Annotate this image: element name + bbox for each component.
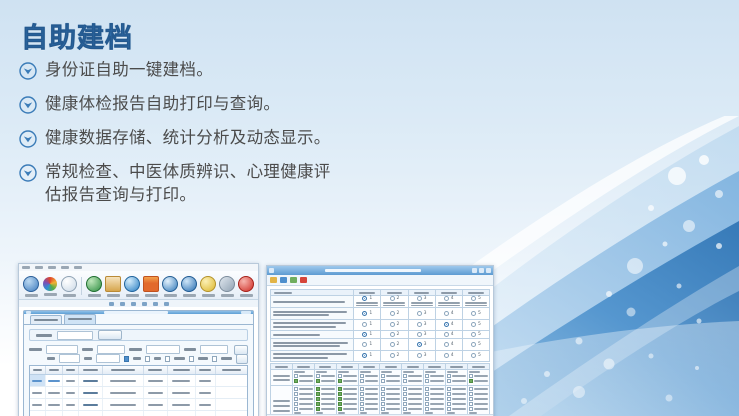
scale-option[interactable]: 4 <box>435 350 462 362</box>
toolbar-clock-icon[interactable] <box>180 275 198 297</box>
toolbar-tools-icon[interactable] <box>218 275 236 297</box>
question-row[interactable]: 1 2 3 4 5 <box>271 308 490 320</box>
scale-option[interactable]: 5 <box>462 296 489 308</box>
list-item-label: 常规检查、中医体质辨识、心理健康评 估报告查询与打印。 <box>45 160 331 206</box>
scale-option[interactable]: 5 <box>462 319 489 331</box>
filter-checkbox[interactable] <box>189 356 194 362</box>
checkbox <box>360 387 364 391</box>
checkbox <box>469 402 473 406</box>
question-text <box>271 319 354 331</box>
radio-button <box>471 332 476 337</box>
scale-option[interactable]: 5 <box>462 339 489 351</box>
checkbox <box>338 374 342 378</box>
checkbox <box>469 392 473 396</box>
print-icon[interactable] <box>280 277 287 283</box>
score-cell[interactable] <box>468 370 490 386</box>
name-input <box>59 354 79 363</box>
mdi-child-window[interactable] <box>23 310 254 416</box>
id-input <box>96 354 120 363</box>
radio-button <box>417 342 422 347</box>
score-cell[interactable] <box>292 370 314 386</box>
checkbox <box>338 392 342 396</box>
checkbox <box>316 397 320 401</box>
tab-two[interactable] <box>64 314 96 324</box>
checkbox <box>469 407 473 411</box>
radio-button <box>471 322 476 327</box>
list-item: 健康数据存储、统计分析及动态显示。 <box>18 126 488 149</box>
toolbar-power-icon[interactable] <box>237 275 255 297</box>
checkbox <box>316 407 320 411</box>
checkbox <box>425 387 429 391</box>
list-item-label-line2: 估报告查询与打印。 <box>45 183 331 206</box>
scale-option[interactable]: 3 <box>408 331 435 339</box>
date-range-input <box>57 331 93 340</box>
checkbox <box>316 392 320 396</box>
radio-button <box>417 296 422 301</box>
checkbox <box>447 392 451 396</box>
checkbox <box>316 402 320 406</box>
radio-button <box>390 353 395 358</box>
scale-option[interactable]: 5 <box>462 331 489 339</box>
table-header-cell <box>63 366 79 374</box>
table-header-row <box>30 366 247 375</box>
scale-option[interactable]: 4 <box>435 296 462 308</box>
checkbox <box>294 407 298 411</box>
checkbox <box>338 387 342 391</box>
menu-item[interactable] <box>35 266 43 269</box>
scale-option[interactable]: 5 <box>462 308 489 320</box>
checkbox <box>294 392 298 396</box>
date-input <box>146 345 180 354</box>
scale-option[interactable]: 4 <box>435 308 462 320</box>
checkbox <box>360 407 364 411</box>
scale-option[interactable]: 1 <box>354 350 381 362</box>
save-icon[interactable] <box>270 277 277 283</box>
radio-button <box>390 296 395 301</box>
toolbar-user-key-icon[interactable] <box>199 275 217 297</box>
scale-option[interactable]: 1 <box>354 331 381 339</box>
list-item: 身份证自助一键建档。 <box>18 58 488 81</box>
radio-button <box>471 353 476 358</box>
checkbox <box>316 374 320 378</box>
checkbox <box>294 379 298 383</box>
table-row[interactable] <box>30 411 247 416</box>
checkbox <box>425 392 429 396</box>
checkbox <box>447 397 451 401</box>
toolbar-color-wheel-icon[interactable] <box>41 276 59 296</box>
chevron-down-circle-icon <box>18 163 38 183</box>
checkbox <box>360 379 364 383</box>
radio-button <box>444 342 449 347</box>
export-icon[interactable] <box>290 277 297 283</box>
checkbox <box>294 397 298 401</box>
checkbox <box>425 397 429 401</box>
filter-checkbox[interactable] <box>124 356 129 362</box>
screenshot-tcm-questionnaire[interactable]: 1 2 3 4 5 <box>266 265 494 416</box>
question-row[interactable]: 1 2 3 4 5 <box>271 339 490 351</box>
checkbox <box>403 379 407 383</box>
checkbox <box>294 387 298 391</box>
table-row[interactable] <box>30 399 247 411</box>
row-label-cell <box>271 370 293 386</box>
toolbar-blue-circle-icon[interactable] <box>123 275 141 297</box>
checkbox <box>294 374 298 378</box>
checkbox <box>469 374 473 378</box>
table-header-cell <box>103 366 144 374</box>
question-text <box>271 308 354 320</box>
advice-cell[interactable] <box>314 386 336 415</box>
scale-option[interactable]: 1 <box>354 308 381 320</box>
table-header-cell <box>46 366 64 374</box>
advice-row <box>271 386 490 415</box>
scale-option[interactable]: 1 <box>354 339 381 351</box>
checkbox <box>403 407 407 411</box>
radio-button <box>362 332 367 337</box>
question-text <box>271 350 354 362</box>
scale-option[interactable]: 2 <box>381 350 408 362</box>
radio-button <box>471 296 476 301</box>
window-title <box>325 269 421 272</box>
questionnaire-table: 1 2 3 4 5 <box>270 289 490 362</box>
score-cell[interactable] <box>402 370 424 386</box>
question-text <box>271 296 354 308</box>
radio-button <box>362 311 367 316</box>
checkbox <box>381 397 385 401</box>
checkbox <box>381 392 385 396</box>
org-input <box>46 345 78 354</box>
constitution-result-table <box>270 363 490 414</box>
code-input <box>97 345 125 354</box>
checkbox <box>403 392 407 396</box>
checkbox <box>469 397 473 401</box>
radio-button <box>444 353 449 358</box>
checkbox <box>469 379 473 383</box>
filter-checkbox-row[interactable] <box>24 354 253 363</box>
radio-button <box>444 296 449 301</box>
chevron-down-circle-icon <box>18 61 38 81</box>
page-title: 自助建档 <box>21 16 133 55</box>
app-secondary-toolbar[interactable] <box>19 300 258 307</box>
checkbox <box>447 387 451 391</box>
table-header-cell <box>79 366 103 374</box>
radio-button <box>390 332 395 337</box>
menu-item[interactable] <box>61 266 69 269</box>
list-item: 健康体检报告自助打印与查询。 <box>18 92 488 115</box>
advice-cell[interactable] <box>380 386 402 415</box>
radio-button <box>362 353 367 358</box>
scale-option[interactable]: 3 <box>408 308 435 320</box>
window-controls[interactable] <box>472 268 491 273</box>
checkbox <box>360 402 364 406</box>
score-cell[interactable] <box>446 370 468 386</box>
radio-button <box>417 311 422 316</box>
checkbox <box>403 402 407 406</box>
row-label-cell <box>271 386 293 415</box>
toolbar-document-icon[interactable] <box>104 275 122 297</box>
feature-bullet-list: 身份证自助一键建档。 健康体检报告自助打印与查询。 健康数据存储、统计分析及动态… <box>18 58 488 217</box>
questionnaire-body: 1 2 3 4 5 <box>267 286 493 414</box>
checkbox <box>360 392 364 396</box>
radio-button <box>390 322 395 327</box>
question-row[interactable]: 1 2 3 4 5 <box>271 350 490 362</box>
checkbox <box>316 387 320 391</box>
scale-option[interactable]: 3 <box>408 319 435 331</box>
radio-button <box>390 342 395 347</box>
scale-option[interactable]: 4 <box>435 339 462 351</box>
filter-checkbox[interactable] <box>145 356 150 362</box>
scale-option[interactable]: 2 <box>381 319 408 331</box>
checkbox <box>447 402 451 406</box>
checkbox <box>381 379 385 383</box>
checkbox <box>381 407 385 411</box>
search-fields-row[interactable] <box>24 345 253 354</box>
table-row[interactable] <box>30 375 247 387</box>
radio-button <box>390 311 395 316</box>
scale-option[interactable]: 1 <box>354 296 381 308</box>
tab-one[interactable] <box>30 315 62 324</box>
list-item: 常规检查、中医体质辨识、心理健康评 估报告查询与打印。 <box>18 160 488 206</box>
score-cell[interactable] <box>380 370 402 386</box>
checkbox <box>403 374 407 378</box>
checkbox <box>381 374 385 378</box>
table-header-cell <box>30 366 46 374</box>
score-cell[interactable] <box>314 370 336 386</box>
list-item-label: 健康数据存储、统计分析及动态显示。 <box>45 126 331 149</box>
window-titlebar <box>267 266 493 275</box>
table-header-cell <box>168 366 196 374</box>
score-cell[interactable] <box>336 370 358 386</box>
radio-button <box>444 322 449 327</box>
scale-option[interactable]: 4 <box>435 319 462 331</box>
checkbox <box>338 407 342 411</box>
toolbar-magnifier-icon[interactable] <box>60 275 78 297</box>
filter-checkbox[interactable] <box>212 356 217 362</box>
question-text <box>271 331 354 339</box>
score-row <box>271 370 490 386</box>
advice-cell[interactable] <box>358 386 380 415</box>
checkbox <box>338 397 342 401</box>
scale-option[interactable]: 3 <box>408 350 435 362</box>
question-row[interactable]: 1 2 3 4 5 <box>271 319 490 331</box>
scale-option[interactable]: 5 <box>462 350 489 362</box>
checkbox <box>425 407 429 411</box>
scale-option[interactable]: 4 <box>435 331 462 339</box>
checkbox <box>403 397 407 401</box>
checkbox <box>381 402 385 406</box>
scale-option[interactable]: 1 <box>354 319 381 331</box>
radio-button <box>417 353 422 358</box>
minimize-icon[interactable] <box>472 268 477 273</box>
scale-option[interactable]: 2 <box>381 296 408 308</box>
slide-root: 自助建档 身份证自助一键建档。 健康体检报告自助打印与查询。 <box>0 0 739 416</box>
checkbox <box>338 379 342 383</box>
advice-cell[interactable] <box>424 386 446 415</box>
menu-item[interactable] <box>22 266 30 269</box>
radio-button <box>362 296 367 301</box>
checkbox <box>294 402 298 406</box>
table-header-cell <box>144 366 168 374</box>
toolbar-webcam-icon[interactable] <box>161 275 179 297</box>
chevron-down-circle-icon <box>18 129 38 149</box>
scale-option[interactable]: 3 <box>408 339 435 351</box>
radio-button <box>362 322 367 327</box>
radio-button <box>362 342 367 347</box>
radio-button <box>471 311 476 316</box>
app-menubar[interactable] <box>19 264 258 271</box>
form-toolbar[interactable] <box>267 275 493 286</box>
advice-cell[interactable] <box>336 386 358 415</box>
checkbox <box>425 379 429 383</box>
app-icon <box>269 268 274 273</box>
checkbox <box>447 407 451 411</box>
scale-option[interactable]: 2 <box>381 331 408 339</box>
radio-button <box>471 342 476 347</box>
question-text <box>271 339 354 351</box>
checkbox <box>360 374 364 378</box>
advice-cell[interactable] <box>402 386 424 415</box>
records-table[interactable] <box>29 365 248 416</box>
advice-cell[interactable] <box>468 386 490 415</box>
maximize-icon[interactable] <box>479 268 484 273</box>
advice-cell[interactable] <box>292 386 314 415</box>
list-item-label-line1: 常规检查、中医体质辨识、心理健康评 <box>45 162 331 181</box>
delete-icon[interactable] <box>300 277 307 283</box>
checkbox <box>469 387 473 391</box>
checkbox <box>425 374 429 378</box>
table-header-cell <box>196 366 216 374</box>
app-toolbar[interactable] <box>19 271 258 300</box>
list-item-label: 健康体检报告自助打印与查询。 <box>45 92 280 115</box>
query-button <box>98 330 122 340</box>
menu-item[interactable] <box>48 266 56 269</box>
checkbox <box>381 387 385 391</box>
score-cell[interactable] <box>424 370 446 386</box>
list-item-label: 身份证自助一键建档。 <box>45 58 213 81</box>
menu-item[interactable] <box>74 266 82 269</box>
radio-button <box>417 322 422 327</box>
tab-strip[interactable] <box>24 314 253 325</box>
checkbox <box>447 379 451 383</box>
table-header-cell <box>216 366 247 374</box>
status-input <box>200 345 228 354</box>
scale-option[interactable]: 3 <box>408 296 435 308</box>
checkbox <box>425 402 429 406</box>
checkbox <box>360 397 364 401</box>
date-filter-panel[interactable] <box>29 329 248 341</box>
radio-button <box>444 311 449 316</box>
checkbox <box>447 374 451 378</box>
chevron-down-circle-icon <box>18 95 38 115</box>
checkbox <box>403 387 407 391</box>
close-icon[interactable] <box>486 268 491 273</box>
scale-option[interactable]: 2 <box>381 308 408 320</box>
scale-option[interactable]: 2 <box>381 339 408 351</box>
advice-cell[interactable] <box>446 386 468 415</box>
toolbar-globe-icon[interactable] <box>85 275 103 297</box>
question-row[interactable]: 1 2 3 4 5 <box>271 296 490 308</box>
radio-button <box>417 332 422 337</box>
checkbox <box>316 379 320 383</box>
radio-button <box>444 332 449 337</box>
question-row[interactable]: 1 2 3 4 5 <box>271 331 490 339</box>
score-cell[interactable] <box>358 370 380 386</box>
filter-checkbox[interactable] <box>165 356 170 362</box>
toolbar-chat-screen-icon[interactable] <box>22 275 40 297</box>
checkbox <box>338 402 342 406</box>
toolbar-bar-chart-icon[interactable] <box>142 275 160 297</box>
export-button <box>236 354 248 364</box>
table-row[interactable] <box>30 387 247 399</box>
screenshot-health-records-app[interactable] <box>18 263 259 416</box>
